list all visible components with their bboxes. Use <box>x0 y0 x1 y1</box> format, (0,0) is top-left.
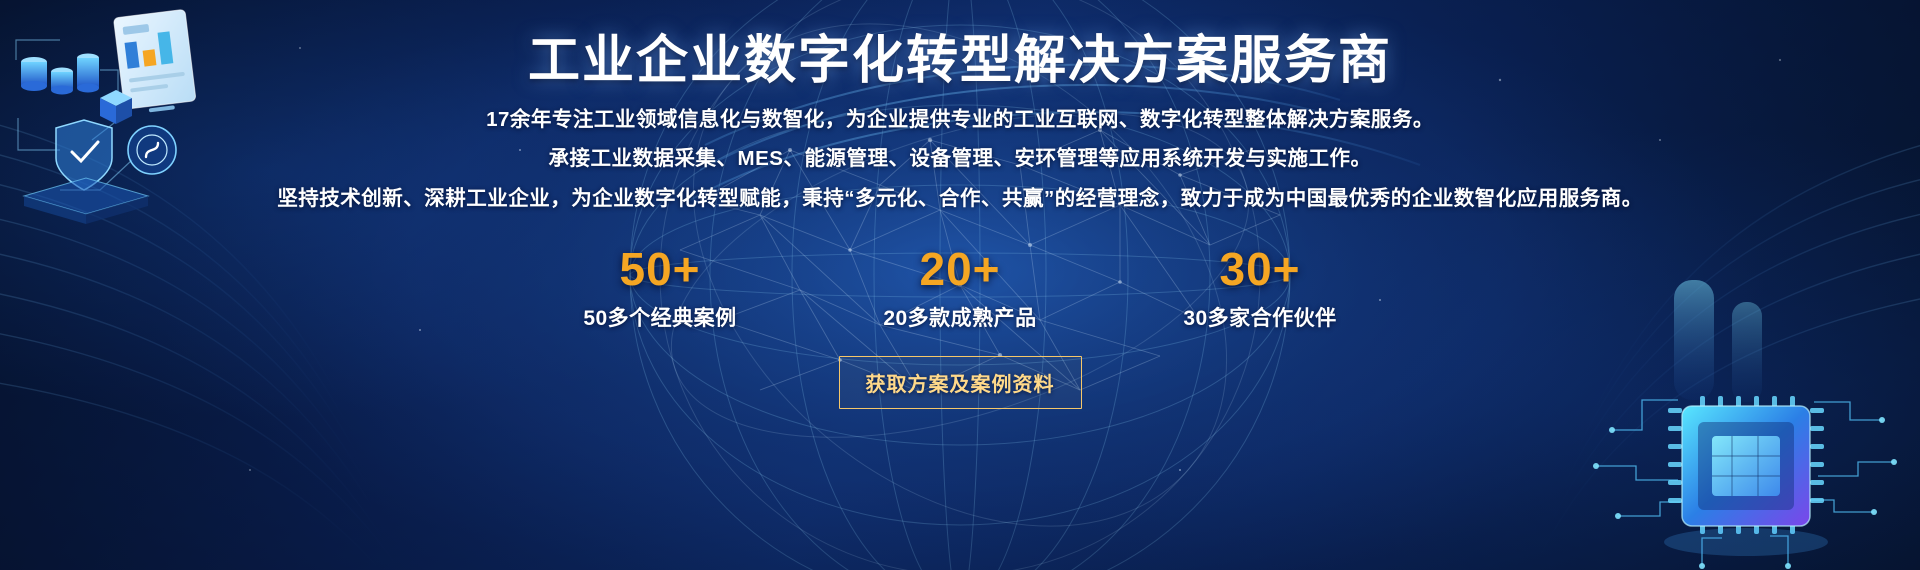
page-title: 工业企业数字化转型解决方案服务商 <box>528 32 1392 92</box>
stats-group: 50+ 50多个经典案例 20+ 20多款成熟产品 30+ 30多家合作伙伴 <box>510 246 1410 332</box>
subtitle-line-2: 承接工业数据采集、MES、能源管理、设备管理、安环管理等应用系统开发与实施工作。 <box>277 149 1643 170</box>
stat-number: 50+ <box>510 246 810 292</box>
stat-label: 20多款成熟产品 <box>810 302 1110 332</box>
stat-number: 30+ <box>1110 246 1410 292</box>
subtitle-group: 17余年专注工业领域信息化与数智化，为企业提供专业的工业互联网、数字化转型整体解… <box>277 110 1643 229</box>
stat-label: 30多家合作伙伴 <box>1110 302 1410 332</box>
stat-item-partners: 30+ 30多家合作伙伴 <box>1110 246 1410 332</box>
stat-number: 20+ <box>810 246 1110 292</box>
stat-item-cases: 50+ 50多个经典案例 <box>510 246 810 332</box>
subtitle-line-3: 坚持技术创新、深耕工业企业，为企业数字化转型赋能，秉持“多元化、合作、共赢”的经… <box>277 189 1643 210</box>
get-solution-button[interactable]: 获取方案及案例资料 <box>839 356 1082 409</box>
hero-banner: 工业企业数字化转型解决方案服务商 17余年专注工业领域信息化与数智化，为企业提供… <box>0 0 1920 570</box>
stat-item-products: 20+ 20多款成熟产品 <box>810 246 1110 332</box>
stat-label: 50多个经典案例 <box>510 302 810 332</box>
banner-content: 工业企业数字化转型解决方案服务商 17余年专注工业领域信息化与数智化，为企业提供… <box>0 0 1920 570</box>
subtitle-line-1: 17余年专注工业领域信息化与数智化，为企业提供专业的工业互联网、数字化转型整体解… <box>277 110 1643 131</box>
